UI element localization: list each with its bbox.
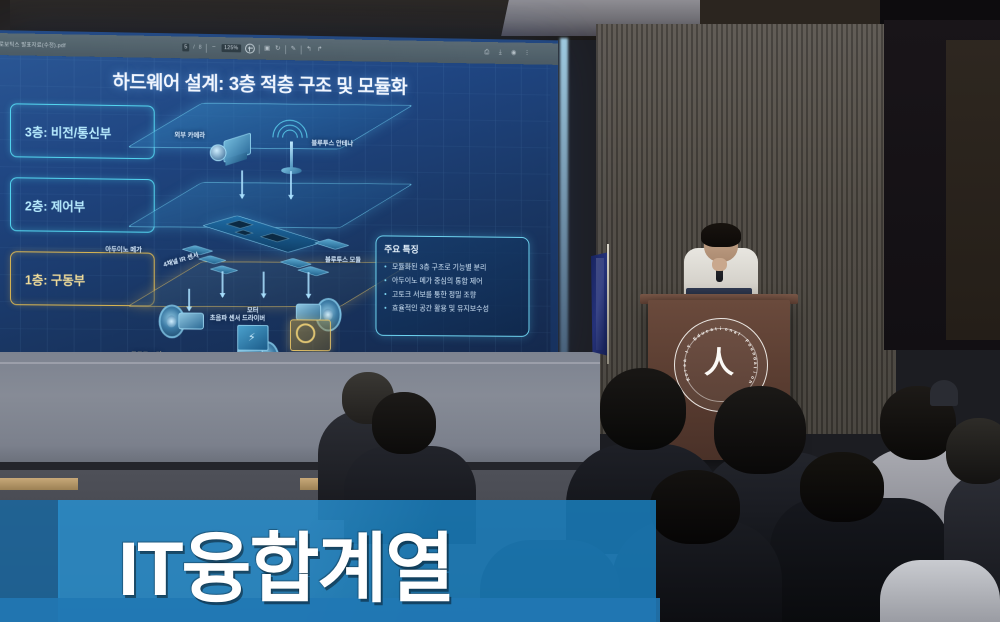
feature-item: 모듈화된 3층 구조로 기능별 분리 bbox=[384, 260, 521, 275]
redo-icon[interactable]: ↱ bbox=[316, 46, 323, 53]
seal-letter: o bbox=[725, 326, 728, 331]
seal-letter: I bbox=[684, 350, 689, 353]
zoom-out-icon[interactable]: − bbox=[210, 44, 217, 51]
label-bluetooth-module: 블루투스 모듈 bbox=[325, 254, 361, 263]
screenshot-root: 하드웨어 설계: 3층 적층 구조 및 모듈화 3층: 비전/통신부 2층: 제… bbox=[0, 0, 1000, 622]
seal-letter: i bbox=[720, 326, 721, 331]
toolbar-divider bbox=[259, 44, 260, 53]
toolbar-right-group: ⎙ ⤓ ◉ ⋮ bbox=[483, 42, 530, 64]
wall-seam-line bbox=[0, 362, 600, 364]
features-heading: 주요 특징 bbox=[384, 242, 521, 256]
speaker-hair bbox=[701, 223, 741, 247]
toolbar-divider bbox=[206, 43, 207, 52]
label-external-camera: 외부 카메라 bbox=[174, 130, 205, 139]
print-icon[interactable]: ⎙ bbox=[483, 49, 490, 56]
feature-item: 고토크 서보를 통한 정밀 조향 bbox=[384, 288, 521, 303]
rotate-icon[interactable]: ↻ bbox=[274, 46, 281, 53]
seal-letter: d bbox=[752, 357, 757, 361]
flow-arrow bbox=[263, 272, 264, 298]
flow-arrow bbox=[308, 272, 309, 298]
flow-arrow bbox=[241, 170, 242, 198]
page-number-input[interactable]: 5 bbox=[182, 43, 189, 51]
feature-item: 효율적인 공간 활용 및 유지보수성 bbox=[384, 301, 521, 316]
flag-fold-highlight bbox=[596, 258, 604, 350]
flow-arrow bbox=[222, 271, 223, 297]
page-separator: / bbox=[193, 45, 195, 51]
seal-letter: a bbox=[682, 359, 687, 362]
label-ultrasonic-driver: 초음파 센서 드라이버 bbox=[210, 313, 265, 322]
layer-box-3: 3층: 비전/통신부 bbox=[10, 103, 155, 159]
seal-letter: n bbox=[748, 379, 754, 384]
seal-letter: a bbox=[753, 362, 758, 365]
seal-letter: n bbox=[729, 327, 733, 333]
toolbar-center-group: 5 / 8 − 125% ▣ ↻ ✎ ↰ ↱ bbox=[182, 36, 323, 60]
motor-icon bbox=[178, 312, 204, 329]
label-bluetooth-antenna: 블루투스 안테나 bbox=[311, 138, 353, 148]
seal-letter: t bbox=[753, 367, 758, 369]
seal-letter: K bbox=[685, 377, 691, 382]
seal-letter: i bbox=[752, 371, 757, 373]
flag-pole bbox=[607, 244, 609, 364]
toolbar-divider bbox=[301, 45, 302, 54]
layer-1-label: 1층: 구동부 bbox=[25, 269, 85, 289]
wooden-bench-left bbox=[0, 478, 78, 490]
seal-letter: l bbox=[737, 332, 741, 337]
banner-title-text: IT융합계열 bbox=[118, 506, 638, 618]
battery-pack-icon bbox=[237, 325, 268, 351]
seal-letter: T bbox=[686, 344, 692, 349]
zoom-level-value[interactable]: 125% bbox=[221, 44, 241, 52]
page-total: 8 bbox=[199, 45, 202, 51]
undo-icon[interactable]: ↰ bbox=[306, 46, 313, 53]
feature-item: 아두이노 메가 중심의 통합 제어 bbox=[384, 274, 521, 289]
flow-arrow bbox=[188, 289, 189, 311]
servo-gear-icon bbox=[296, 323, 315, 343]
lecture-hall-room: 하드웨어 설계: 3층 적층 구조 및 모듈화 3층: 비전/통신부 2층: 제… bbox=[0, 0, 1000, 622]
seal-letter: n bbox=[751, 352, 757, 356]
download-icon[interactable]: ⤓ bbox=[497, 50, 504, 57]
seal-letter: o bbox=[750, 375, 756, 379]
screen-right-glow bbox=[560, 38, 568, 368]
label-arduino-mega: 아두이노 메가 bbox=[105, 244, 142, 253]
wall-below-screen bbox=[0, 352, 600, 477]
features-panel: 주요 특징 모듈화된 3층 구조로 기능별 분리 아두이노 메가 중심의 통합 … bbox=[375, 235, 529, 337]
speaker-hand bbox=[712, 258, 727, 271]
features-list: 모듈화된 3층 구조로 기능별 분리 아두이노 메가 중심의 통합 제어 고토크… bbox=[384, 260, 521, 316]
seal-letter: t bbox=[715, 326, 717, 331]
more-options-icon[interactable]: ⋮ bbox=[524, 50, 531, 57]
fit-page-icon[interactable]: ▣ bbox=[264, 45, 271, 52]
layer-3-label: 3층: 비전/통신부 bbox=[25, 121, 111, 141]
layer-2-label: 2층: 제어부 bbox=[25, 195, 85, 215]
pdf-filename: 로보틱스 발표자료(수정).pdf bbox=[0, 40, 88, 50]
toolbar-divider bbox=[285, 45, 286, 54]
zoom-in-icon[interactable] bbox=[245, 44, 255, 54]
camera-lens-icon bbox=[210, 144, 227, 161]
layer-box-1: 1층: 구동부 bbox=[10, 251, 155, 306]
annotate-icon[interactable]: ✎ bbox=[290, 46, 297, 53]
flow-arrow bbox=[290, 171, 291, 199]
presentation-slide: 하드웨어 설계: 3층 적층 구조 및 모듈화 3층: 비전/통신부 2층: 제… bbox=[0, 55, 550, 359]
seal-letter: a bbox=[710, 327, 714, 333]
seal-letter: e bbox=[682, 364, 687, 367]
wall-far-right-wood bbox=[946, 40, 1000, 340]
seal-letter: c bbox=[705, 328, 709, 334]
motor-icon bbox=[296, 304, 321, 321]
info-icon[interactable]: ◉ bbox=[510, 50, 517, 57]
